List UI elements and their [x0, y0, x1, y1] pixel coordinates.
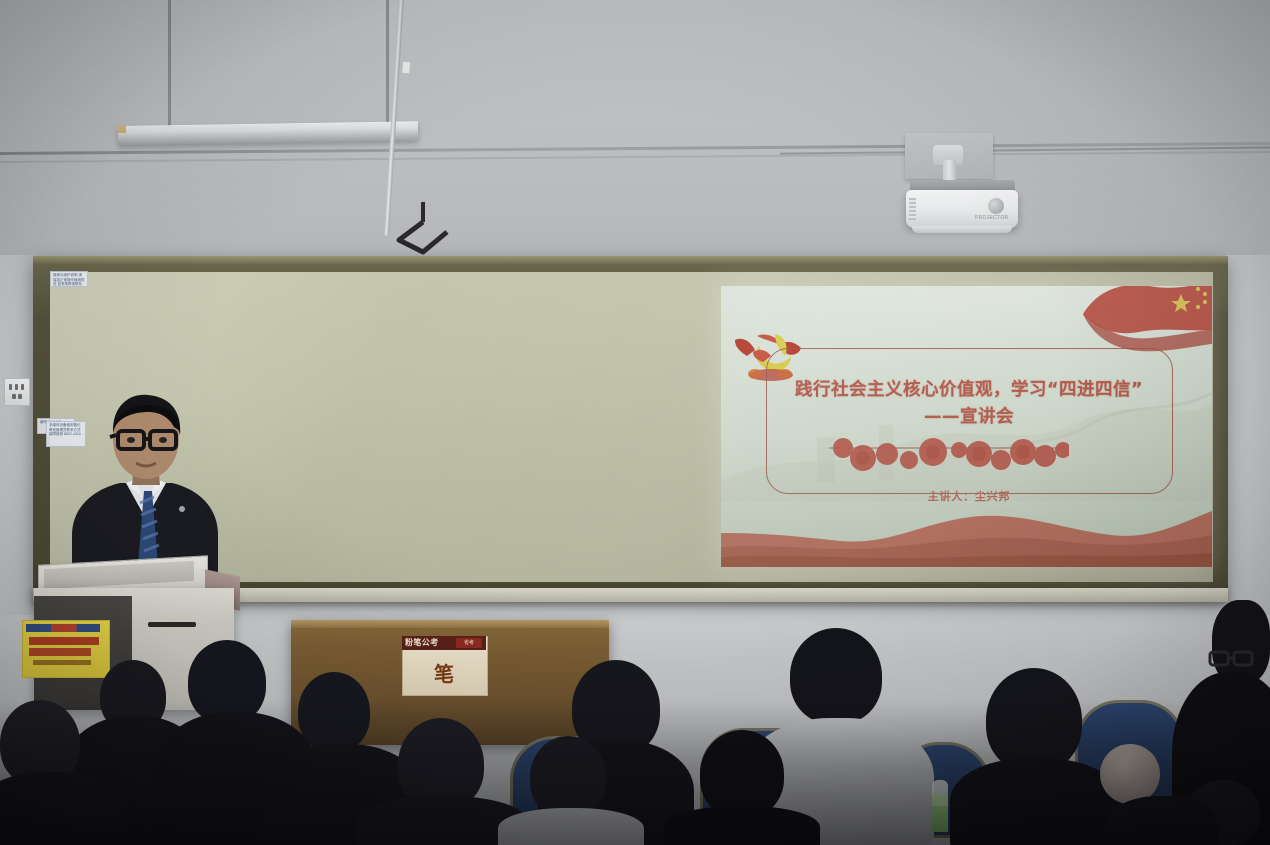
audience-body	[950, 758, 1122, 845]
audience-head	[700, 730, 784, 818]
audience-body	[0, 772, 126, 845]
projector-brand-text: PROJECTOR	[975, 215, 1008, 221]
screen-pull-hook-icon	[393, 200, 453, 260]
audience-glasses-icon	[1208, 646, 1254, 670]
projected-slide: 践行社会主义核心价值观，学习“四进四信” ——宣讲会 主讲人：尘兴邦	[721, 286, 1212, 567]
projector-mount-neck	[943, 160, 956, 182]
right-wall-column	[1226, 255, 1270, 615]
audience-fur-hood	[1100, 744, 1160, 804]
audience-body	[1108, 796, 1218, 845]
audience-head	[790, 628, 882, 724]
slide-speaker-line: 主讲人：尘兴邦	[773, 488, 1165, 504]
bottle-label	[932, 806, 948, 832]
audience-body	[498, 808, 644, 845]
cabinet-top-edge	[291, 620, 609, 628]
board-label-top: 使用与维护说明 请保持正常操作使用规范 如有故障请联系教务处报修	[50, 271, 88, 287]
cabinet-poster-header: 粉笔公考	[405, 637, 439, 648]
poster-line-3	[33, 660, 91, 665]
lecture-hall-photo: PROJECTOR	[0, 0, 1270, 845]
podium-slot	[148, 622, 196, 627]
wall-power-outlet-left[interactable]	[4, 378, 30, 406]
slide-title: 践行社会主义核心价值观，学习“四进四信”	[773, 378, 1165, 403]
audience-head	[298, 672, 370, 752]
audience-head	[530, 736, 606, 818]
audience-head	[986, 668, 1082, 772]
light-hanger-rod-left	[168, 0, 171, 128]
projector-vent	[909, 198, 916, 220]
slide-subtitle: ——宣讲会	[773, 403, 1165, 428]
light-hanger-rod-right	[386, 0, 389, 130]
projector-lens	[988, 198, 1004, 214]
poster-line-1	[29, 637, 99, 645]
flower-garland	[829, 434, 1069, 476]
projector-base	[912, 226, 1012, 233]
poster-line-2	[29, 648, 91, 656]
mountain-graphic	[721, 503, 1212, 567]
left-wall-column	[0, 255, 36, 615]
cabinet-poster-glyph: 笔	[402, 650, 486, 694]
pull-rod-band	[402, 62, 410, 73]
podium-yellow-poster	[22, 620, 110, 678]
poster-top-band	[26, 624, 100, 632]
drink-bottle	[932, 780, 948, 832]
cabinet-poster-tag: 省考	[456, 638, 482, 648]
light-fixture-end-cap	[118, 126, 126, 133]
audience-body	[664, 806, 820, 845]
whiteboard-frame-highlight	[33, 256, 1228, 264]
